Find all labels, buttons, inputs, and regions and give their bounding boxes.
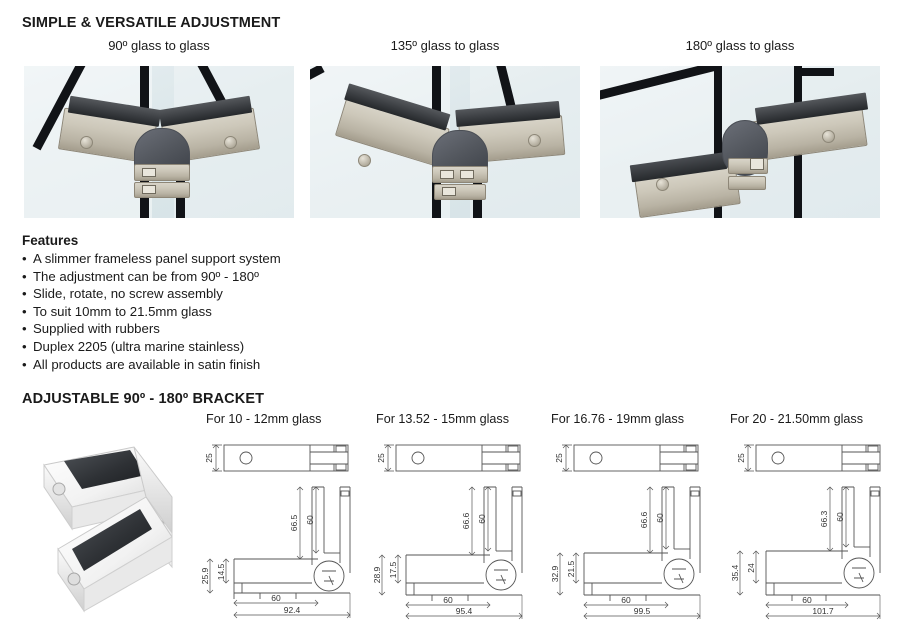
dim-left-outer: 35.4 xyxy=(730,564,740,581)
drawing-10-12mm: 25 66.5 60 25.9 14.5 60 xyxy=(200,433,376,623)
dim-left-outer: 28.9 xyxy=(372,566,382,583)
feature-text: Duplex 2205 (ultra marine stainless) xyxy=(33,339,244,354)
dim-vertical-inner: 60 xyxy=(655,513,665,523)
bullet-icon: • xyxy=(22,268,33,286)
feature-text: The adjustment can be from 90º - 180º xyxy=(33,269,259,284)
bracket-3d-render xyxy=(26,437,196,617)
photo-caption-135: 135º glass to glass xyxy=(310,38,580,53)
feature-text: Slide, rotate, no screw assembly xyxy=(33,286,223,301)
feature-item: •The adjustment can be from 90º - 180º xyxy=(22,268,281,286)
feature-item: •A slimmer frameless panel support syste… xyxy=(22,250,281,268)
features-heading: Features xyxy=(22,233,281,248)
bullet-icon: • xyxy=(22,303,33,321)
bullet-icon: • xyxy=(22,285,33,303)
dim-left-inner: 17.5 xyxy=(388,561,398,578)
drawing-1676-19mm: 25 66.6 60 32.9 21.5 60 99.5 xyxy=(548,433,724,623)
dim-vertical-outer: 66.6 xyxy=(461,512,471,529)
dim-bottom-inner: 60 xyxy=(271,593,281,603)
features-block: Features •A slimmer frameless panel supp… xyxy=(22,233,281,373)
drawing-caption-20-2150mm: For 20 - 21.50mm glass xyxy=(730,412,863,426)
photo-135-glass-to-glass xyxy=(310,66,580,218)
page-title-adjustment: SIMPLE & VERSATILE ADJUSTMENT xyxy=(22,15,280,31)
photo-180-glass-to-glass xyxy=(600,66,880,218)
dim-vertical-inner: 60 xyxy=(835,512,845,522)
dim-vertical-inner: 60 xyxy=(477,514,487,524)
feature-item: •All products are available in satin fin… xyxy=(22,356,281,374)
bullet-icon: • xyxy=(22,250,33,268)
dim-left-outer: 32.9 xyxy=(550,565,560,582)
photo-caption-90: 90º glass to glass xyxy=(24,38,294,53)
page-title-bracket: ADJUSTABLE 90º - 180º BRACKET xyxy=(22,391,264,407)
drawing-caption-1352-15mm: For 13.52 - 15mm glass xyxy=(376,412,509,426)
feature-item: •Slide, rotate, no screw assembly xyxy=(22,285,281,303)
dim-bottom-inner: 60 xyxy=(802,595,812,605)
dim-left-inner: 21.5 xyxy=(566,560,576,577)
drawing-caption-10-12mm: For 10 - 12mm glass xyxy=(206,412,321,426)
dim-top-height: 25 xyxy=(376,453,386,463)
feature-text: All products are available in satin fini… xyxy=(33,357,260,372)
feature-text: To suit 10mm to 21.5mm glass xyxy=(33,304,212,319)
dim-vertical-inner: 60 xyxy=(305,515,315,525)
feature-item: •Supplied with rubbers xyxy=(22,320,281,338)
bullet-icon: • xyxy=(22,338,33,356)
dim-vertical-outer: 66.6 xyxy=(639,511,649,528)
dim-bottom-overall: 95.4 xyxy=(456,606,473,616)
dim-bottom-overall: 99.5 xyxy=(634,606,651,616)
feature-text: A slimmer frameless panel support system xyxy=(33,251,281,266)
dim-left-inner: 14.5 xyxy=(216,563,226,580)
drawing-1352-15mm: 25 66.6 60 28.9 17.5 60 95.4 xyxy=(372,433,548,623)
dim-vertical-outer: 66.3 xyxy=(819,510,829,527)
photo-caption-180: 180º glass to glass xyxy=(600,38,880,53)
dim-left-inner: 24 xyxy=(746,563,756,573)
bullet-icon: • xyxy=(22,320,33,338)
photo-90-glass-to-glass xyxy=(24,66,294,218)
feature-text: Supplied with rubbers xyxy=(33,321,160,336)
dim-bottom-overall: 92.4 xyxy=(284,605,301,615)
drawing-caption-1676-19mm: For 16.76 - 19mm glass xyxy=(551,412,684,426)
drawing-20-2150mm: 25 66.3 60 35.4 24 60 101.7 xyxy=(726,433,899,623)
dim-left-outer: 25.9 xyxy=(200,567,210,584)
dim-bottom-inner: 60 xyxy=(621,595,631,605)
bullet-icon: • xyxy=(22,356,33,374)
dim-vertical-outer: 66.5 xyxy=(289,514,299,531)
dim-top-height: 25 xyxy=(554,453,564,463)
feature-item: •To suit 10mm to 21.5mm glass xyxy=(22,303,281,321)
feature-item: •Duplex 2205 (ultra marine stainless) xyxy=(22,338,281,356)
dim-bottom-inner: 60 xyxy=(443,595,453,605)
dim-bottom-overall: 101.7 xyxy=(812,606,834,616)
dim-top-height: 25 xyxy=(204,453,214,463)
dim-top-height: 25 xyxy=(736,453,746,463)
